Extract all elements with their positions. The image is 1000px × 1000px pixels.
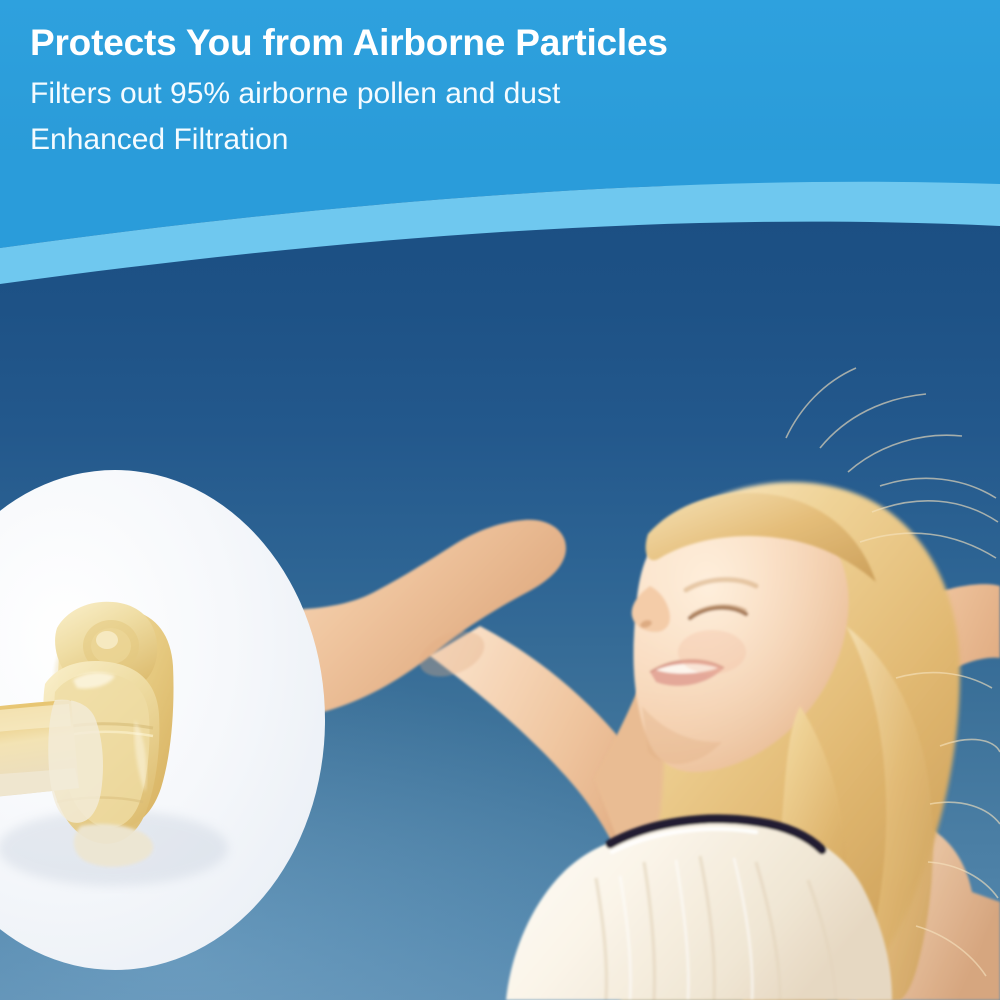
- product-image: [0, 470, 325, 970]
- subtitle-line-2: Enhanced Filtration: [30, 117, 930, 164]
- marketing-infographic: Protects You from Airborne Particles Fil…: [0, 0, 1000, 1000]
- header-text-block: Protects You from Airborne Particles Fil…: [30, 22, 930, 164]
- product-inset-oval: [0, 470, 325, 970]
- page-title: Protects You from Airborne Particles: [30, 22, 930, 65]
- subtitle-line-1: Filters out 95% airborne pollen and dust: [30, 71, 930, 118]
